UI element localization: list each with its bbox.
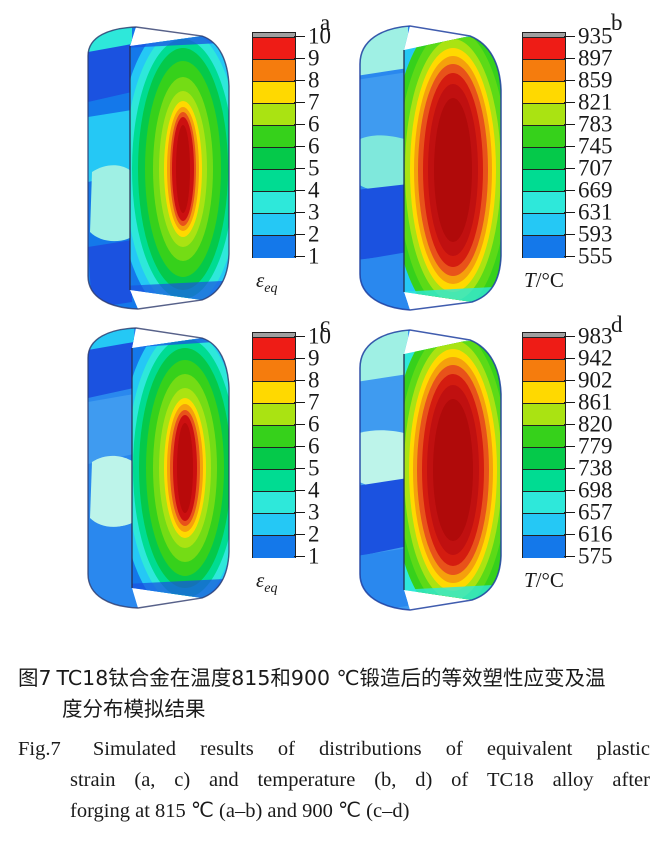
colorbar-tick-label: 861 xyxy=(578,391,613,414)
colorbar-band xyxy=(253,236,295,258)
caption-word: (b, xyxy=(374,765,396,796)
colorbar-tick-label: 1 xyxy=(308,545,320,568)
colorbar-tick xyxy=(564,446,575,447)
colorbar-band xyxy=(253,148,295,170)
colorbar-group-b: 935897859821783745707669631593555 xyxy=(522,32,642,264)
colorbar-tick-label: 657 xyxy=(578,501,613,524)
colorbar-tick xyxy=(294,534,305,535)
colorbar-tick-label: 7 xyxy=(308,391,320,414)
colorbar-band xyxy=(253,170,295,192)
colorbar-tick-label: 707 xyxy=(578,157,613,180)
colorbar-tick xyxy=(564,556,575,557)
caption-word: d) xyxy=(415,765,432,796)
colorbar-band xyxy=(253,126,295,148)
colorbar-band xyxy=(523,192,565,214)
colorbar-tick xyxy=(294,402,305,403)
caption-english-line2: strain(a,c)andtemperature(b,d)ofTC18allo… xyxy=(18,765,650,796)
colorbar-tick-label: 779 xyxy=(578,435,613,458)
caption-word: (a, xyxy=(134,765,155,796)
colorbar-tick-label: 3 xyxy=(308,501,320,524)
colorbar-band xyxy=(253,426,295,448)
colorbar-tick xyxy=(294,468,305,469)
panel-d-specimen xyxy=(352,322,522,614)
colorbar-tick-label: 575 xyxy=(578,545,613,568)
colorbar-tick xyxy=(294,380,305,381)
colorbar-tick xyxy=(294,358,305,359)
colorbar-tick-label: 3 xyxy=(308,201,320,224)
caption-word: of xyxy=(278,734,295,765)
colorbar-c xyxy=(252,332,296,558)
caption-word: of xyxy=(446,734,463,765)
colorbar-tick xyxy=(294,424,305,425)
colorbar-tick-label: 698 xyxy=(578,479,613,502)
colorbar-tick xyxy=(294,234,305,235)
colorbar-tick-label: 902 xyxy=(578,369,613,392)
colorbar-tick xyxy=(564,80,575,81)
colorbar-band xyxy=(523,148,565,170)
caption-english: Fig.7Simulatedresultsofdistributionsofeq… xyxy=(18,734,650,827)
colorbar-band xyxy=(523,492,565,514)
colorbar-band xyxy=(523,236,565,258)
colorbar-band xyxy=(523,38,565,60)
colorbar-band xyxy=(253,104,295,126)
colorbar-tick-label: 783 xyxy=(578,113,613,136)
colorbar-tick-label: 1 xyxy=(308,245,320,268)
colorbar-tick-label: 897 xyxy=(578,47,613,70)
colorbar-tick xyxy=(294,490,305,491)
caption-word: TC18 xyxy=(487,765,534,796)
colorbar-tick xyxy=(294,124,305,125)
colorbar-tick-label: 6 xyxy=(308,413,320,436)
caption-word: equivalent xyxy=(487,734,572,765)
panel-letter-a: a xyxy=(320,10,330,36)
colorbar-tick xyxy=(294,80,305,81)
colorbar-band xyxy=(253,470,295,492)
temperature-symbol: T xyxy=(524,568,536,592)
colorbar-tick xyxy=(564,102,575,103)
colorbar-tick xyxy=(564,146,575,147)
colorbar-group-d: 983942902861820779738698657616575 xyxy=(522,332,642,564)
colorbar-tick-label: 6 xyxy=(308,135,320,158)
temperature-unit: /°C xyxy=(536,268,564,292)
colorbar-band xyxy=(523,126,565,148)
caption-word: distributions xyxy=(319,734,422,765)
caption-word: results xyxy=(200,734,254,765)
colorbar-tick-label: 631 xyxy=(578,201,613,224)
temperature-symbol: T xyxy=(524,268,536,292)
panel-letter-d: d xyxy=(611,312,623,338)
caption-word: plastic xyxy=(596,734,650,765)
colorbar-band xyxy=(523,514,565,536)
colorbar-tick xyxy=(564,358,575,359)
colorbar-band xyxy=(253,338,295,360)
colorbar-tick xyxy=(294,190,305,191)
panel-letter-c: c xyxy=(320,312,330,338)
colorbar-tick xyxy=(564,234,575,235)
colorbar-band xyxy=(523,60,565,82)
caption-word: of xyxy=(451,765,468,796)
colorbar-tick xyxy=(564,336,575,337)
colorbar-band xyxy=(253,404,295,426)
colorbar-tick-label: 935 xyxy=(578,25,613,48)
figure-area: 109876654321 εeq a xyxy=(0,0,666,655)
colorbar-tick-label: 2 xyxy=(308,523,320,546)
colorbar-band xyxy=(523,404,565,426)
contour-plot-d xyxy=(352,322,522,614)
colorbar-tick-label: 6 xyxy=(308,113,320,136)
colorbar-tick-label: 669 xyxy=(578,179,613,202)
colorbar-band xyxy=(253,514,295,536)
colorbar-tick-label: 745 xyxy=(578,135,613,158)
colorbar-band xyxy=(523,82,565,104)
colorbar-band xyxy=(523,214,565,236)
panel-a-specimen xyxy=(52,22,248,312)
colorbar-tick-label: 9 xyxy=(308,347,320,370)
contour-plot-c xyxy=(52,322,248,612)
colorbar-band xyxy=(523,382,565,404)
colorbar-band xyxy=(523,426,565,448)
colorbar-group-c: 109876654321 xyxy=(252,332,338,564)
colorbar-band xyxy=(253,360,295,382)
strain-subscript: eq xyxy=(264,581,277,596)
colorbar-band xyxy=(253,382,295,404)
colorbar-band xyxy=(523,104,565,126)
colorbar-tick xyxy=(294,36,305,37)
caption-english-lead: Fig.7 xyxy=(18,734,61,765)
strain-subscript: eq xyxy=(264,281,277,296)
colorbar-b xyxy=(522,32,566,258)
colorbar-band xyxy=(523,170,565,192)
colorbar-band xyxy=(253,38,295,60)
panel-b-specimen xyxy=(352,20,522,315)
colorbar-band xyxy=(253,492,295,514)
colorbar-band xyxy=(253,192,295,214)
colorbar-tick xyxy=(564,534,575,535)
colorbar-tick-label: 8 xyxy=(308,369,320,392)
colorbar-tick xyxy=(564,424,575,425)
contour-plot-a xyxy=(52,22,248,312)
colorbar-tick-label: 593 xyxy=(578,223,613,246)
colorbar-band xyxy=(253,448,295,470)
colorbar-band xyxy=(523,448,565,470)
colorbar-tick-label: 983 xyxy=(578,325,613,348)
colorbar-band xyxy=(523,338,565,360)
colorbar-tick-label: 9 xyxy=(308,47,320,70)
colorbar-tick-label: 555 xyxy=(578,245,613,268)
colorbar-tick xyxy=(294,336,305,337)
colorbar-tick-label: 616 xyxy=(578,523,613,546)
colorbar-band xyxy=(253,536,295,558)
colorbar-tick-label: 738 xyxy=(578,457,613,480)
colorbar-tick xyxy=(564,36,575,37)
colorbar-d-caption: T/°C xyxy=(524,568,564,593)
colorbar-tick xyxy=(294,58,305,59)
caption-english-line3: forging at 815 ℃ (a–b) and 900 ℃ (c–d) xyxy=(18,796,650,827)
colorbar-b-caption: T/°C xyxy=(524,268,564,293)
colorbar-tick xyxy=(564,58,575,59)
panel-c-specimen xyxy=(52,322,248,612)
colorbar-tick-label: 820 xyxy=(578,413,613,436)
colorbar-tick-label: 5 xyxy=(308,457,320,480)
colorbar-tick-label: 2 xyxy=(308,223,320,246)
caption-word: alloy xyxy=(553,765,594,796)
contour-plot-b xyxy=(352,20,522,315)
caption-english-line1: Fig.7Simulatedresultsofdistributionsofeq… xyxy=(18,734,650,765)
colorbar-tick-label: 859 xyxy=(578,69,613,92)
caption-chinese-line1: 图7TC18钛合金在温度815和900 ℃锻造后的等效塑性应变及温 xyxy=(18,663,650,694)
colorbar-tick xyxy=(294,512,305,513)
caption-word: strain xyxy=(70,765,116,796)
colorbar-d xyxy=(522,332,566,558)
caption-chinese-line2: 度分布模拟结果 xyxy=(18,694,650,725)
caption-word: Simulated xyxy=(93,734,176,765)
colorbar-band xyxy=(523,360,565,382)
colorbar-tick xyxy=(294,146,305,147)
colorbar-tick xyxy=(564,168,575,169)
colorbar-group-a: 109876654321 xyxy=(252,32,338,264)
colorbar-a xyxy=(252,32,296,258)
colorbar-c-caption: εeq xyxy=(256,568,278,597)
caption-word: temperature xyxy=(257,765,355,796)
colorbar-tick xyxy=(294,212,305,213)
colorbar-tick xyxy=(564,490,575,491)
colorbar-tick xyxy=(564,124,575,125)
colorbar-tick xyxy=(564,380,575,381)
colorbar-tick xyxy=(564,468,575,469)
caption-word: and xyxy=(209,765,239,796)
caption-chinese-text1: TC18钛合金在温度815和900 ℃锻造后的等效塑性应变及温 xyxy=(57,666,606,690)
colorbar-tick xyxy=(564,256,575,257)
colorbar-tick xyxy=(564,212,575,213)
colorbar-tick xyxy=(294,446,305,447)
caption-word: c) xyxy=(174,765,190,796)
colorbar-band xyxy=(253,214,295,236)
colorbar-band xyxy=(523,470,565,492)
caption-word: after xyxy=(612,765,650,796)
colorbar-tick xyxy=(564,402,575,403)
colorbar-tick xyxy=(564,512,575,513)
colorbar-tick-label: 942 xyxy=(578,347,613,370)
colorbar-tick-label: 6 xyxy=(308,435,320,458)
caption-chinese-lead: 图7 xyxy=(18,666,52,690)
colorbar-tick xyxy=(294,102,305,103)
panel-letter-b: b xyxy=(611,10,623,36)
colorbar-band xyxy=(253,82,295,104)
colorbar-tick-label: 821 xyxy=(578,91,613,114)
colorbar-tick-label: 5 xyxy=(308,157,320,180)
figure-caption: 图7TC18钛合金在温度815和900 ℃锻造后的等效塑性应变及温 度分布模拟结… xyxy=(18,663,650,827)
colorbar-tick xyxy=(294,256,305,257)
colorbar-tick xyxy=(564,190,575,191)
colorbar-tick-label: 7 xyxy=(308,91,320,114)
colorbar-tick-label: 8 xyxy=(308,69,320,92)
colorbar-tick-label: 4 xyxy=(308,179,320,202)
temperature-unit: /°C xyxy=(536,568,564,592)
colorbar-band xyxy=(523,536,565,558)
colorbar-band xyxy=(253,60,295,82)
colorbar-tick xyxy=(294,556,305,557)
colorbar-a-caption: εeq xyxy=(256,268,278,297)
colorbar-tick-label: 4 xyxy=(308,479,320,502)
colorbar-tick xyxy=(294,168,305,169)
